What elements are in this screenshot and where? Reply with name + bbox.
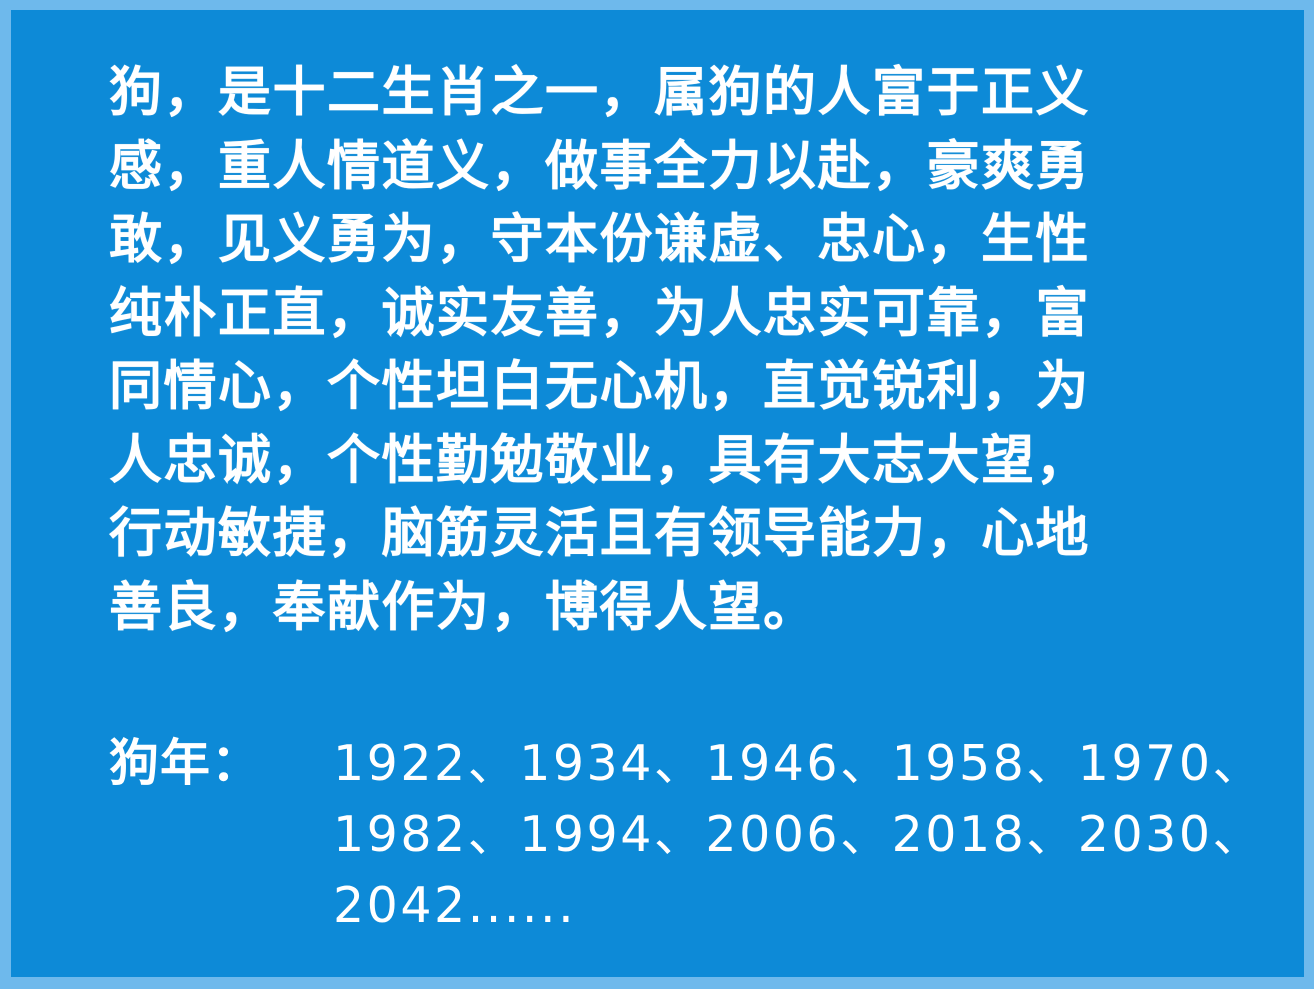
paragraph-line-3: 敢，见义勇为，守本份谦虚、忠心，生性 [109,203,1269,277]
dog-years-values-row-3: 2042...... [333,877,576,934]
poster-panel: 狗，是十二生肖之一，属狗的人富于正义 感，重人情道义，做事全力以赴，豪爽勇 敢，… [11,10,1304,977]
paragraph-line-2: 感，重人情道义，做事全力以赴，豪爽勇 [109,130,1269,204]
paragraph-line-5: 同情心，个性坦白无心机，直觉锐利，为 [109,350,1269,424]
paragraph-line-4: 纯朴正直，诚实友善，为人忠实可靠，富 [109,277,1269,351]
paragraph-line-8: 善良，奉献作为，博得人望。 [109,571,1269,645]
dog-years-row: 狗年： 2042...... [109,865,1269,936]
dog-years-block: 狗年： 1922、1934、1946、1958、1970、 狗年： 1982、1… [109,723,1269,936]
description-paragraph: 狗，是十二生肖之一，属狗的人富于正义 感，重人情道义，做事全力以赴，豪爽勇 敢，… [109,56,1269,644]
paragraph-line-6: 人忠诚，个性勤勉敬业，具有大志大望， [109,424,1269,498]
dog-years-values-row-1: 1922、1934、1946、1958、1970、 [333,724,1264,795]
dog-years-label: 狗年： [109,723,333,795]
paragraph-line-1: 狗，是十二生肖之一，属狗的人富于正义 [109,56,1269,130]
dog-years-values-row-2: 1982、1994、2006、2018、2030、 [333,795,1264,866]
dog-years-row: 狗年： 1922、1934、1946、1958、1970、 [109,723,1269,794]
dog-years-row: 狗年： 1982、1994、2006、2018、2030、 [109,794,1269,865]
paragraph-line-7: 行动敏捷，脑筋灵活且有领导能力，心地 [109,497,1269,571]
zodiac-dog-poster: 狗，是十二生肖之一，属狗的人富于正义 感，重人情道义，做事全力以赴，豪爽勇 敢，… [0,0,1314,989]
